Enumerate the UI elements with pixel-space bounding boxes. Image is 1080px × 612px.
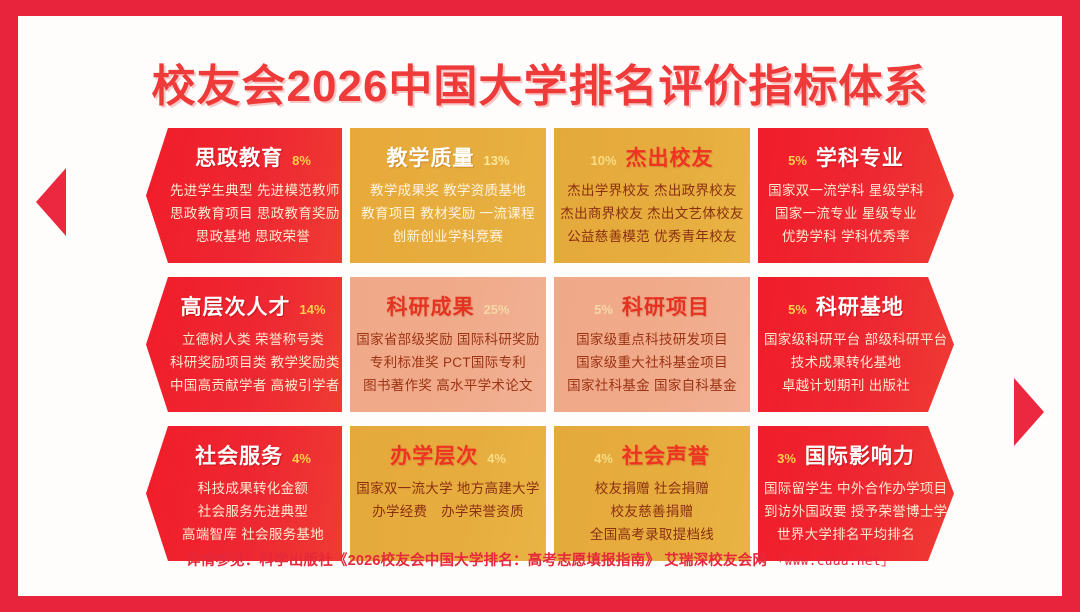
- card-weight-badge: 5%: [594, 302, 613, 317]
- card-weight-badge: 14%: [299, 302, 325, 317]
- card-items: 科技成果转化金额社会服务先进典型高端智库 社会服务基地: [170, 477, 336, 546]
- card-item: 国际留学生 中外合作办学项目: [764, 477, 928, 500]
- card-items: 国家双一流学科 星级学科国家一流专业 星级专业优势学科 学科优秀率: [764, 179, 928, 248]
- card-weight-badge: 3%: [777, 451, 796, 466]
- card-item: 国家级重点科技研发项目: [560, 328, 744, 351]
- indicator-card[interactable]: 高层次人才14%立德树人类 荣誉称号类科研奖励项目类 教学奖励类中国高贡献学者 …: [146, 277, 342, 412]
- card-weight-badge: 4%: [594, 451, 613, 466]
- indicator-card[interactable]: 10%杰出校友杰出学界校友 杰出政界校友杰出商界校友 杰出文艺体校友公益慈善模范…: [554, 128, 750, 263]
- card-item: 立德树人类 荣誉称号类: [170, 328, 336, 351]
- card-header: 3%国际影响力: [764, 440, 928, 470]
- card-item: 技术成果转化基地: [764, 351, 928, 374]
- card-item: 国家省部级奖励 国际科研奖励: [356, 328, 540, 351]
- card-item: 科技成果转化金额: [170, 477, 336, 500]
- indicator-card[interactable]: 科研成果25%国家省部级奖励 国际科研奖励专利标准奖 PCT国际专利图书著作奖 …: [350, 277, 546, 412]
- card-weight-badge: 10%: [590, 153, 616, 168]
- card-header: 高层次人才14%: [170, 291, 336, 321]
- card-item: 创新创业学科竞赛: [356, 225, 540, 248]
- corner-accent-left-icon: [36, 168, 66, 236]
- page-title: 校友会2026中国大学排名评价指标体系: [18, 50, 1062, 114]
- card-weight-badge: 13%: [483, 153, 509, 168]
- card-header: 思政教育8%: [170, 142, 336, 172]
- card-header: 5%科研基地: [764, 291, 928, 321]
- footer-url[interactable]: 「www.cuaa.net」: [771, 554, 894, 569]
- card-title: 科研项目: [622, 291, 710, 321]
- poster-panel: 校友会2026中国大学排名评价指标体系 思政教育8%先进学生典型 先进模范教师思…: [18, 16, 1062, 596]
- card-item: 高端智库 社会服务基地: [170, 523, 336, 546]
- card-item: 校友慈善捐赠: [560, 500, 744, 523]
- card-items: 国家双一流大学 地方高建大学办学经费 办学荣誉资质: [356, 477, 540, 523]
- card-title: 高层次人才: [180, 291, 290, 321]
- indicator-card[interactable]: 5%学科专业国家双一流学科 星级学科国家一流专业 星级专业优势学科 学科优秀率: [758, 128, 954, 263]
- footer-note: 详情参见：科学出版社《2026校友会中国大学排名：高考志愿填报指南》 艾瑞深校友…: [18, 549, 1062, 570]
- card-item: 国家一流专业 星级专业: [764, 202, 928, 225]
- card-item: 社会服务先进典型: [170, 500, 336, 523]
- card-item: 办学经费 办学荣誉资质: [356, 500, 540, 523]
- card-item: 教学成果奖 教学资质基地: [356, 179, 540, 202]
- card-item: 公益慈善模范 优秀青年校友: [560, 225, 744, 248]
- card-item: 优势学科 学科优秀率: [764, 225, 928, 248]
- card-item: 卓越计划期刊 出版社: [764, 374, 928, 397]
- card-weight-badge: 4%: [292, 451, 311, 466]
- card-items: 校友捐赠 社会捐赠校友慈善捐赠全国高考录取提档线: [560, 477, 744, 546]
- card-item: 图书著作奖 高水平学术论文: [356, 374, 540, 397]
- card-item: 杰出商界校友 杰出文艺体校友: [560, 202, 744, 225]
- card-item: 教育项目 教材奖励 一流课程: [356, 202, 540, 225]
- card-item: 国家级重大社科基金项目: [560, 351, 744, 374]
- card-item: 思政基地 思政荣誉: [170, 225, 336, 248]
- indicator-card[interactable]: 社会服务4%科技成果转化金额社会服务先进典型高端智库 社会服务基地: [146, 426, 342, 561]
- card-item: 校友捐赠 社会捐赠: [560, 477, 744, 500]
- card-item: 全国高考录取提档线: [560, 523, 744, 546]
- card-header: 办学层次4%: [356, 440, 540, 470]
- indicator-card[interactable]: 5%科研基地国家级科研平台 部级科研平台技术成果转化基地卓越计划期刊 出版社: [758, 277, 954, 412]
- card-weight-badge: 4%: [487, 451, 506, 466]
- card-title: 社会服务: [195, 440, 283, 470]
- card-header: 社会服务4%: [170, 440, 336, 470]
- card-items: 杰出学界校友 杰出政界校友杰出商界校友 杰出文艺体校友公益慈善模范 优秀青年校友: [560, 179, 744, 248]
- card-header: 4%社会声誉: [560, 440, 744, 470]
- card-weight-badge: 8%: [292, 153, 311, 168]
- card-title: 办学层次: [390, 440, 478, 470]
- card-item: 思政教育项目 思政教育奖励: [170, 202, 336, 225]
- indicator-card[interactable]: 5%科研项目国家级重点科技研发项目国家级重大社科基金项目国家社科基金 国家自科基…: [554, 277, 750, 412]
- card-title: 学科专业: [816, 142, 904, 172]
- card-item: 先进学生典型 先进模范教师: [170, 179, 336, 202]
- corner-accent-right-icon: [1014, 378, 1044, 446]
- card-title: 科研成果: [386, 291, 474, 321]
- card-header: 5%学科专业: [764, 142, 928, 172]
- card-title: 科研基地: [816, 291, 904, 321]
- indicator-card[interactable]: 3%国际影响力国际留学生 中外合作办学项目到访外国政要 授予荣誉博士学位世界大学…: [758, 426, 954, 561]
- card-items: 国家省部级奖励 国际科研奖励专利标准奖 PCT国际专利图书著作奖 高水平学术论文: [356, 328, 540, 397]
- footer-text: 详情参见：科学出版社《2026校友会中国大学排名：高考志愿填报指南》 艾瑞深校友…: [186, 553, 767, 569]
- card-item: 国家社科基金 国家自科基金: [560, 374, 744, 397]
- indicator-grid: 思政教育8%先进学生典型 先进模范教师思政教育项目 思政教育奖励思政基地 思政荣…: [146, 128, 970, 561]
- card-item: 国家双一流学科 星级学科: [764, 179, 928, 202]
- card-header: 10%杰出校友: [560, 142, 744, 172]
- card-item: 专利标准奖 PCT国际专利: [356, 351, 540, 374]
- indicator-card[interactable]: 4%社会声誉校友捐赠 社会捐赠校友慈善捐赠全国高考录取提档线: [554, 426, 750, 561]
- card-header: 科研成果25%: [356, 291, 540, 321]
- card-weight-badge: 25%: [483, 302, 509, 317]
- indicator-card[interactable]: 教学质量13%教学成果奖 教学资质基地教育项目 教材奖励 一流课程创新创业学科竞…: [350, 128, 546, 263]
- card-item: 世界大学排名平均排名: [764, 523, 928, 546]
- card-header: 5%科研项目: [560, 291, 744, 321]
- card-items: 国家级科研平台 部级科研平台技术成果转化基地卓越计划期刊 出版社: [764, 328, 928, 397]
- card-items: 立德树人类 荣誉称号类科研奖励项目类 教学奖励类中国高贡献学者 高被引学者: [170, 328, 336, 397]
- card-item: 国家级科研平台 部级科研平台: [764, 328, 928, 351]
- card-items: 国际留学生 中外合作办学项目到访外国政要 授予荣誉博士学位世界大学排名平均排名: [764, 477, 928, 546]
- card-title: 教学质量: [386, 142, 474, 172]
- card-weight-badge: 5%: [788, 302, 807, 317]
- card-item: 中国高贡献学者 高被引学者: [170, 374, 336, 397]
- card-weight-badge: 5%: [788, 153, 807, 168]
- indicator-card[interactable]: 思政教育8%先进学生典型 先进模范教师思政教育项目 思政教育奖励思政基地 思政荣…: [146, 128, 342, 263]
- card-header: 教学质量13%: [356, 142, 540, 172]
- card-title: 国际影响力: [805, 440, 915, 470]
- card-item: 到访外国政要 授予荣誉博士学位: [764, 500, 928, 523]
- card-items: 国家级重点科技研发项目国家级重大社科基金项目国家社科基金 国家自科基金: [560, 328, 744, 397]
- card-item: 科研奖励项目类 教学奖励类: [170, 351, 336, 374]
- card-title: 思政教育: [195, 142, 283, 172]
- card-items: 先进学生典型 先进模范教师思政教育项目 思政教育奖励思政基地 思政荣誉: [170, 179, 336, 248]
- card-item: 国家双一流大学 地方高建大学: [356, 477, 540, 500]
- card-title: 杰出校友: [626, 142, 714, 172]
- card-title: 社会声誉: [622, 440, 710, 470]
- card-items: 教学成果奖 教学资质基地教育项目 教材奖励 一流课程创新创业学科竞赛: [356, 179, 540, 248]
- indicator-card[interactable]: 办学层次4%国家双一流大学 地方高建大学办学经费 办学荣誉资质: [350, 426, 546, 561]
- card-item: 杰出学界校友 杰出政界校友: [560, 179, 744, 202]
